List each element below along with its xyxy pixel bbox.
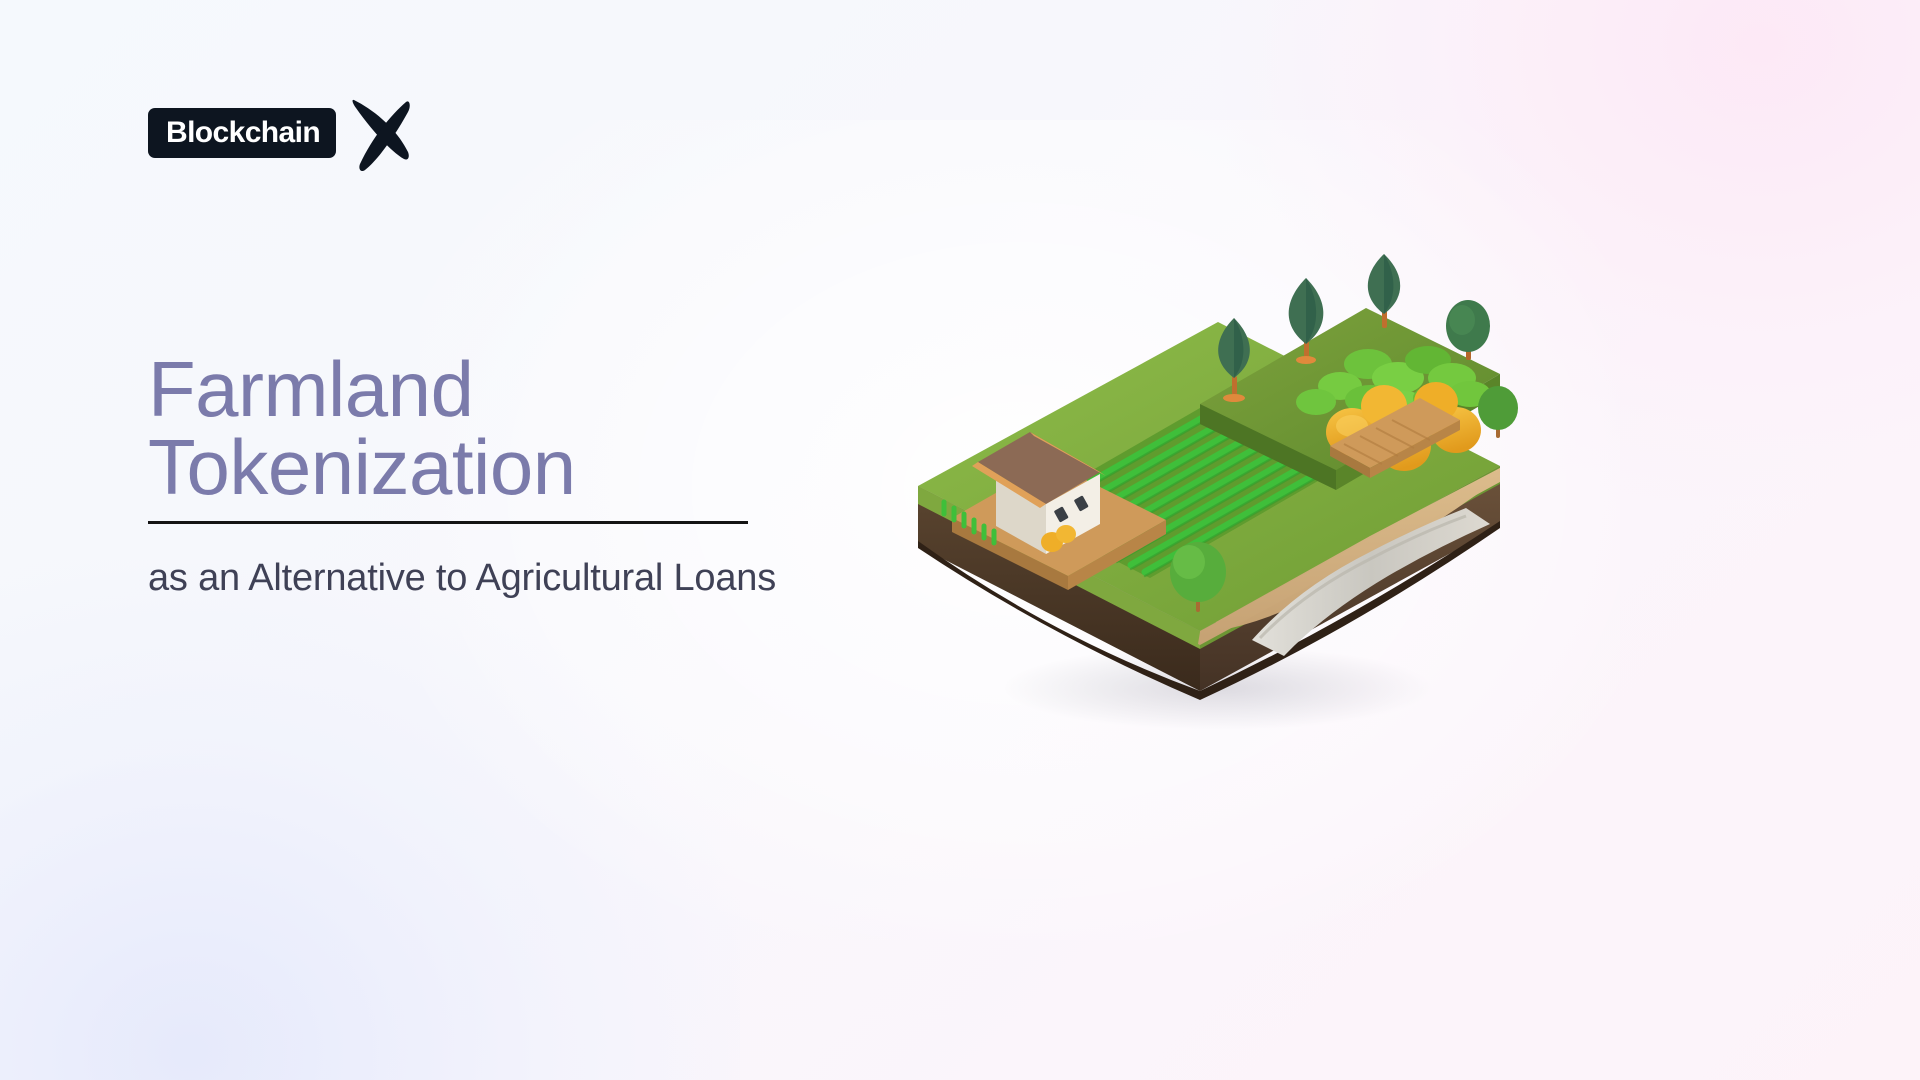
page-title-line-1: Farmland	[148, 352, 908, 428]
page-title-line-2: Tokenization	[148, 430, 908, 506]
logo-wordmark: Blockchain	[166, 118, 320, 148]
round-tree-right-2	[1478, 386, 1518, 438]
page-subtitle: as an Alternative to Agricultural Loans	[148, 552, 868, 606]
farmland-illustration	[900, 236, 1520, 736]
brand-logo[interactable]: Blockchain	[148, 94, 418, 178]
title-divider	[148, 521, 748, 524]
banner-canvas: Blockchain Farmland Tokenization as an A…	[0, 0, 1920, 1080]
x-icon	[344, 94, 416, 178]
hero-text-block: Farmland Tokenization as an Alternative …	[148, 352, 908, 606]
logo-plate: Blockchain	[148, 108, 336, 158]
